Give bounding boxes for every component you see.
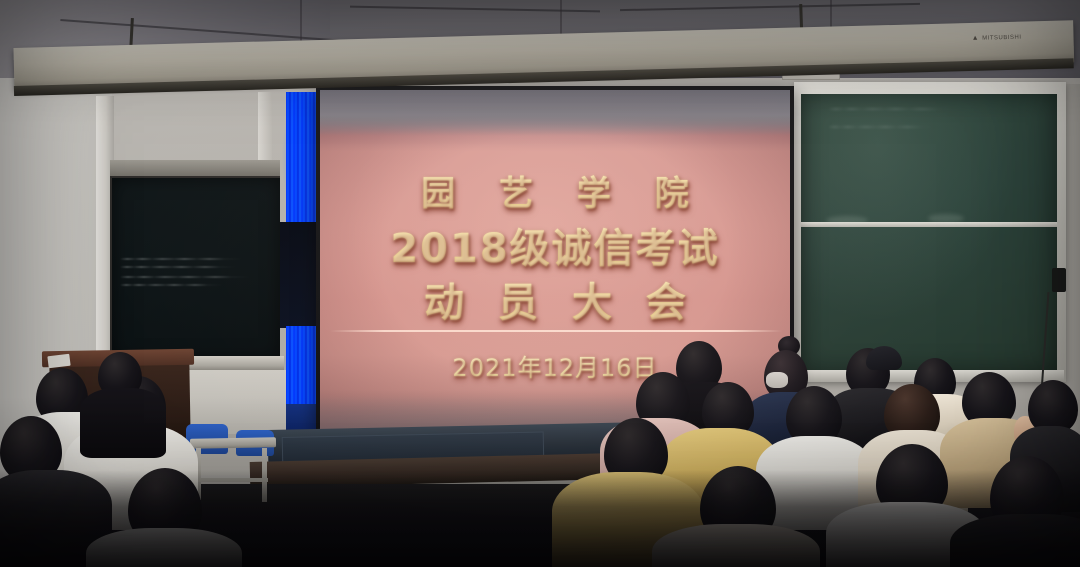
scene-caption: Classroom exam-integrity mobilization me… xyxy=(0,554,1080,565)
chalk-line xyxy=(828,108,958,110)
housing-brand-text: MITSUBISHI xyxy=(982,35,1021,42)
slide-divider-line xyxy=(330,330,782,332)
classroom-photo-scene: MITSUBISHI 园 艺 学 院 2018级诚信考试 动 员 大 会 202… xyxy=(0,0,1080,567)
blue-curtain xyxy=(286,92,320,224)
chalk-line xyxy=(120,258,244,260)
slide-title-line-1: 园 艺 学 院 xyxy=(320,166,790,215)
blackboard-ghost-writing xyxy=(828,104,968,130)
blackboard-left xyxy=(110,176,280,362)
housing-brand-label: ▲MITSUBISHI xyxy=(972,34,1022,42)
desk-rail xyxy=(196,478,268,482)
student-body xyxy=(80,388,166,458)
slide-title-line-2: 2018级诚信考试 xyxy=(320,216,790,274)
board-clip xyxy=(1052,268,1066,292)
chalk-smudge xyxy=(928,214,964,223)
chalk-line xyxy=(120,276,252,278)
green-blackboard-right xyxy=(801,94,1057,372)
chalk-writing xyxy=(120,254,260,294)
desk-leg xyxy=(262,448,267,502)
chalk-line xyxy=(120,266,238,268)
chalk-smudge xyxy=(826,216,868,225)
slide-title-line-3: 动 员 大 会 xyxy=(320,270,790,328)
chalk-line xyxy=(120,284,224,286)
ceiling-seam xyxy=(620,3,920,11)
face-mask xyxy=(766,372,788,388)
screen-top-band xyxy=(320,90,790,136)
ceiling-seam xyxy=(350,6,600,13)
chalk-line xyxy=(828,126,938,128)
brand-mark-icon: ▲ xyxy=(972,35,980,42)
